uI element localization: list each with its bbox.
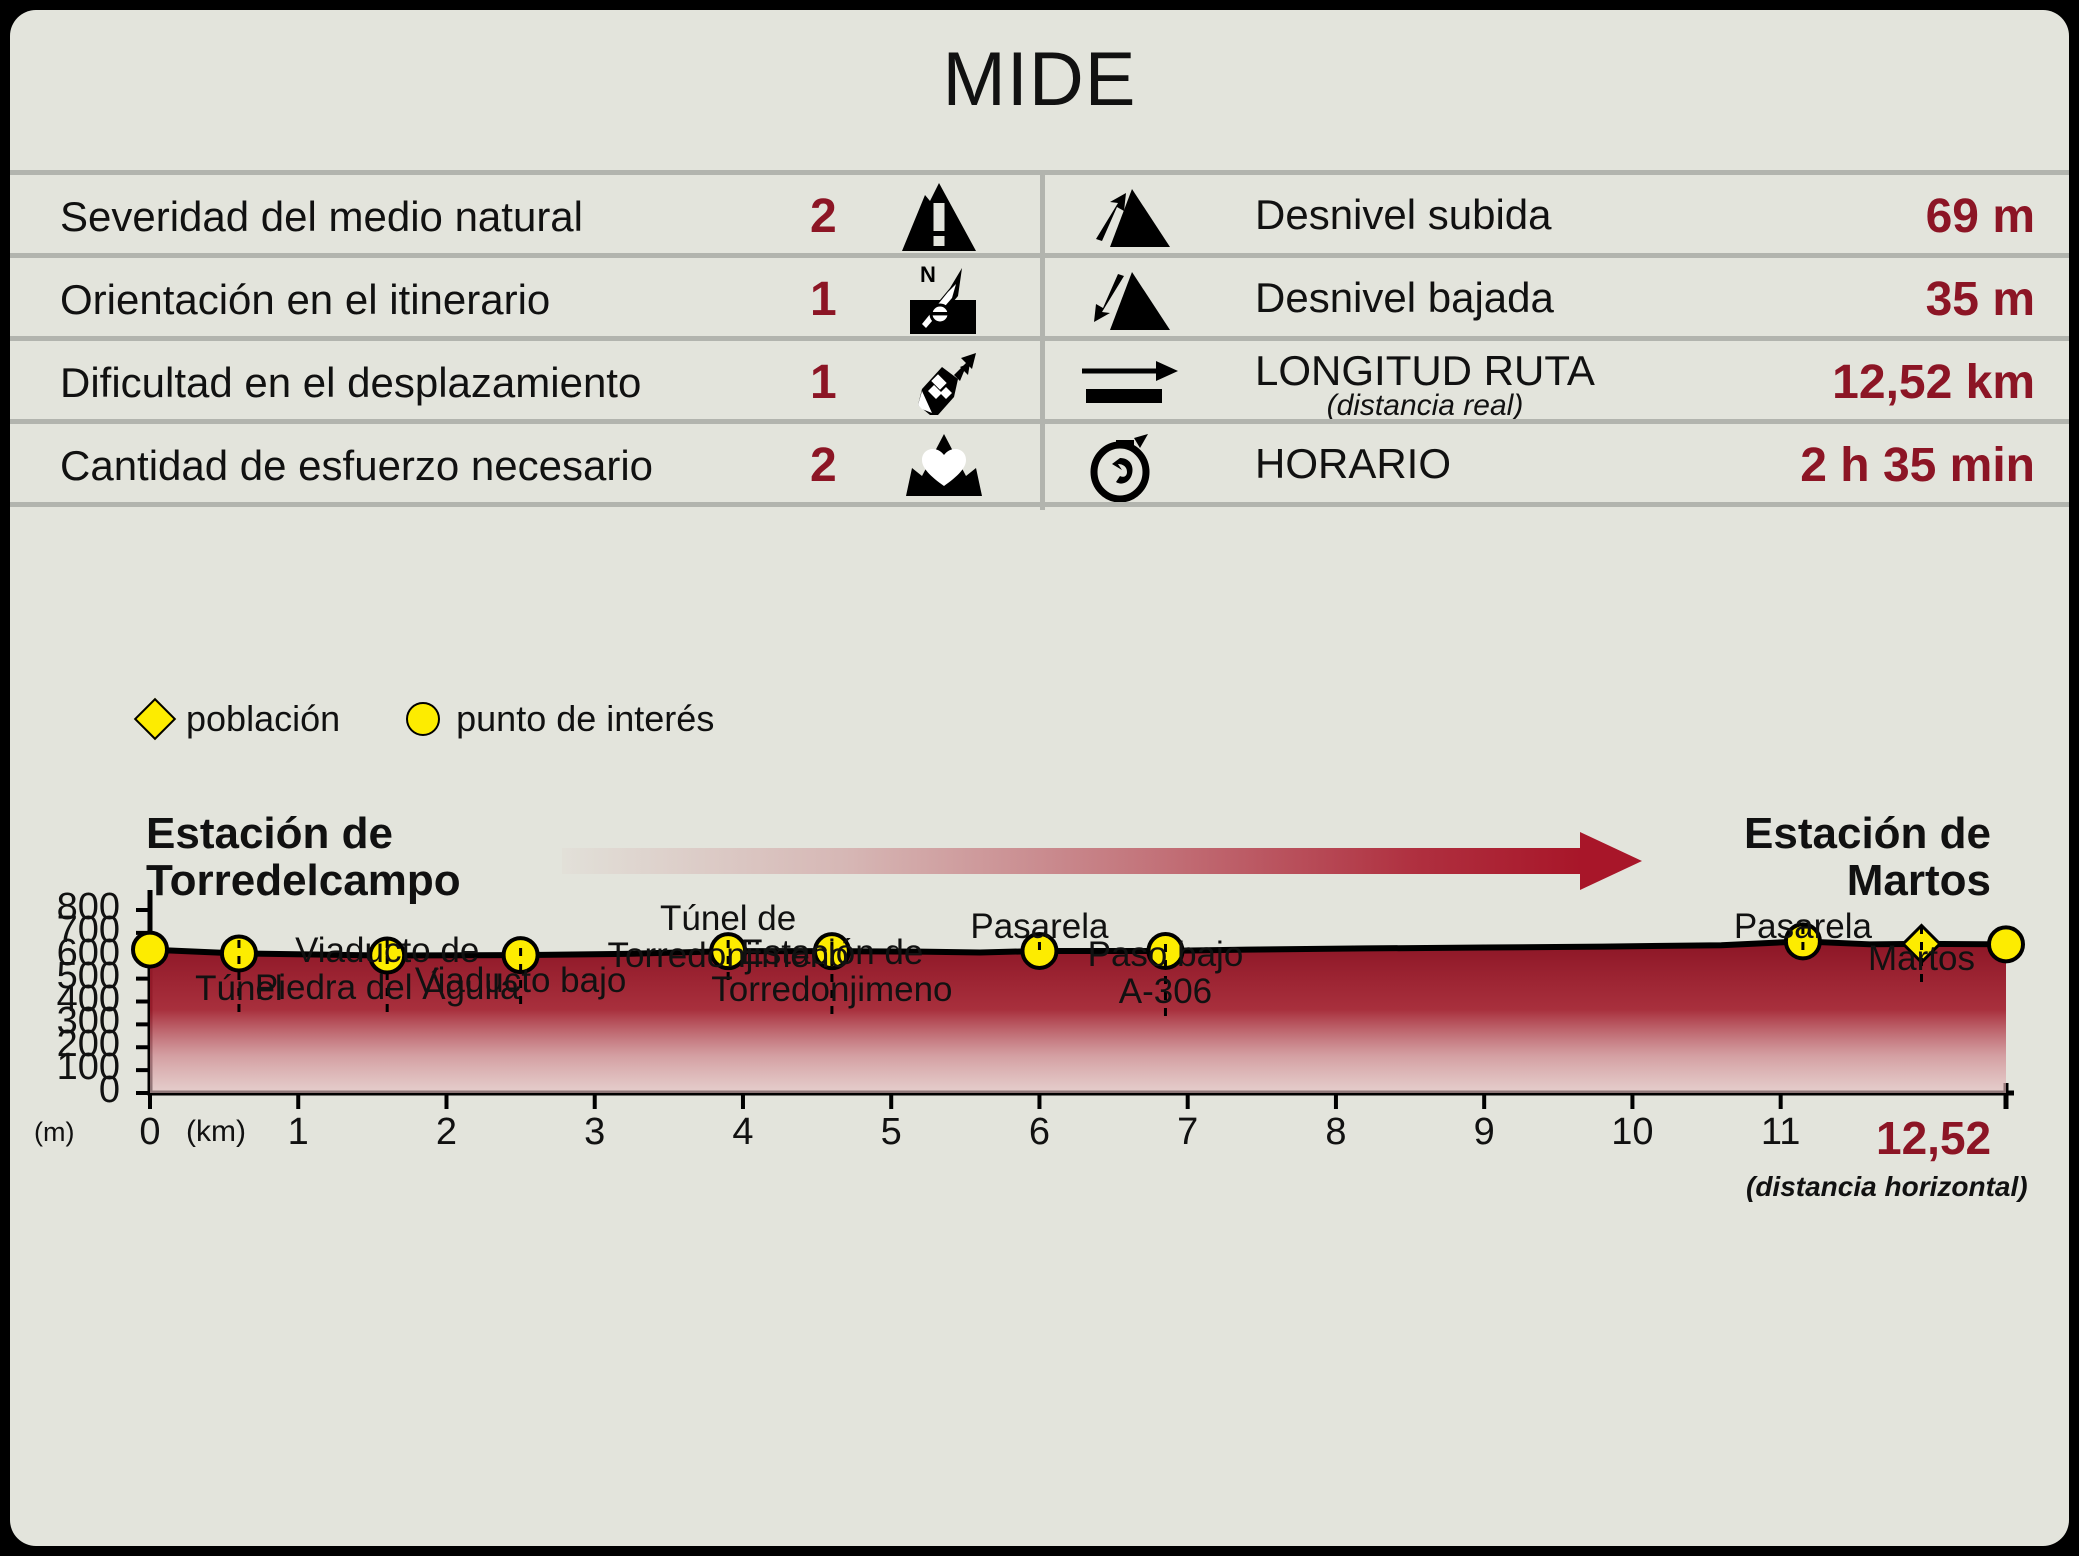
displacement-boot-icon — [908, 345, 982, 426]
ascent-icon — [1088, 187, 1174, 254]
poi-label-line: Túnel de — [608, 900, 849, 937]
x-axis-end-note: (distancia horizontal) — [1746, 1171, 2028, 1203]
table-row: Cantidad de esfuerzo necesario 2 HORARIO — [10, 424, 2069, 507]
poi-label-line: Paso bajo — [1088, 936, 1244, 973]
poblacion-diamond-icon — [134, 698, 176, 740]
route-end-line1: Estación de — [1744, 810, 1991, 857]
criterion-value-1: 1 — [810, 272, 837, 327]
elevation-profile-chart: (m) (km) 12,52 (distancia horizontal) 01… — [10, 890, 2069, 1490]
poi-label-line: Pasarela — [1734, 908, 1872, 945]
criterion-label-3: Cantidad de esfuerzo necesario — [60, 442, 653, 490]
poi-label: Martos — [1868, 940, 1975, 977]
legend-label-punto-interes: punto de interés — [456, 698, 714, 740]
metric-label-text-1: Desnivel bajada — [1255, 274, 1554, 321]
metric-value-3: 2 h 35 min — [1800, 438, 2035, 493]
criterion-value-0: 2 — [810, 189, 837, 244]
criterion-label-1: Orientación en el itinerario — [60, 276, 550, 324]
criterion-label-2: Dificultad en el desplazamiento — [60, 359, 641, 407]
x-tick-label: 7 — [1133, 1111, 1243, 1154]
x-tick-label: 0 — [95, 1111, 205, 1154]
metric-sublabel-2: (distancia real) — [1255, 389, 1595, 423]
punto-interes-circle-icon — [406, 702, 440, 736]
criterion-value-2: 1 — [810, 355, 837, 410]
metric-label-text-0: Desnivel subida — [1255, 191, 1552, 238]
poi-marker — [1989, 927, 2023, 961]
x-tick-label: 9 — [1429, 1111, 1539, 1154]
poi-label-line: Torredonjimeno — [711, 971, 952, 1008]
x-tick-label: 5 — [836, 1111, 946, 1154]
metric-label-2: LONGITUD RUTA (distancia real) — [1255, 347, 1595, 423]
poi-label-line: A-306 — [1088, 973, 1244, 1010]
x-tick-label: 1 — [243, 1111, 353, 1154]
svg-text:N: N — [920, 262, 936, 287]
metric-label-text-2: LONGITUD RUTA — [1255, 347, 1595, 394]
poi-label: Pasarela — [1734, 908, 1872, 945]
route-start-line1: Estación de — [146, 810, 461, 857]
row-divider — [10, 502, 2069, 507]
effort-heart-icon — [904, 430, 984, 505]
metric-label-text-3: HORARIO — [1255, 440, 1451, 487]
page-title: MIDE — [10, 36, 2069, 123]
x-tick-label: 2 — [391, 1111, 501, 1154]
orientation-compass-icon: N — [906, 262, 984, 343]
x-axis-end-value: 12,52 — [1876, 1111, 1991, 1165]
direction-arrow-icon — [562, 832, 1662, 890]
table-row: Dificultad en el desplazamiento 1 — [10, 341, 2069, 424]
metric-value-0: 69 m — [1926, 189, 2035, 244]
criterion-label-0: Severidad del medio natural — [60, 193, 583, 241]
x-tick-label: 4 — [688, 1111, 798, 1154]
x-tick-label: 11 — [1726, 1111, 1836, 1154]
y-axis-unit: (m) — [34, 1117, 74, 1148]
profile-legend: población punto de interés — [140, 698, 714, 740]
stopwatch-icon — [1082, 432, 1164, 507]
x-tick-label: 6 — [984, 1111, 1094, 1154]
poi-label-line: Martos — [1868, 940, 1975, 977]
x-tick-label: 3 — [540, 1111, 650, 1154]
route-length-arrow-icon — [1080, 357, 1182, 414]
poi-label: Estación deTorredonjimeno — [711, 934, 952, 1009]
metric-label-0: Desnivel subida — [1255, 191, 1552, 239]
table-row: Orientación en el itinerario 1 N — [10, 258, 2069, 341]
metric-label-3: HORARIO — [1255, 440, 1451, 488]
descent-icon — [1088, 270, 1174, 337]
table-row: Severidad del medio natural 2 Desnivel s… — [10, 175, 2069, 258]
criterion-value-3: 2 — [810, 438, 837, 493]
severity-mountain-exclamation-icon — [900, 181, 978, 258]
mide-table: Severidad del medio natural 2 Desnivel s… — [10, 175, 2069, 510]
mide-card: MIDE Severidad del medio natural 2 — [10, 10, 2069, 1546]
metric-label-1: Desnivel bajada — [1255, 274, 1554, 322]
poi-label: Paso bajoA-306 — [1088, 936, 1244, 1011]
poi-label-line: Viaducto bajo — [415, 962, 626, 999]
legend-label-poblacion: población — [186, 698, 340, 740]
x-tick-label: 8 — [1281, 1111, 1391, 1154]
metric-value-2: 12,52 km — [1832, 355, 2035, 410]
metric-value-1: 35 m — [1926, 272, 2035, 327]
x-tick-label: 10 — [1577, 1111, 1687, 1154]
poi-marker — [133, 933, 167, 967]
y-tick-label: 800 — [10, 886, 120, 929]
direction-arrow-bar — [562, 848, 1582, 874]
poi-label-line: Estación de — [711, 934, 952, 971]
poi-label: Viaducto bajo — [415, 962, 626, 999]
direction-arrow-head — [1580, 832, 1642, 890]
